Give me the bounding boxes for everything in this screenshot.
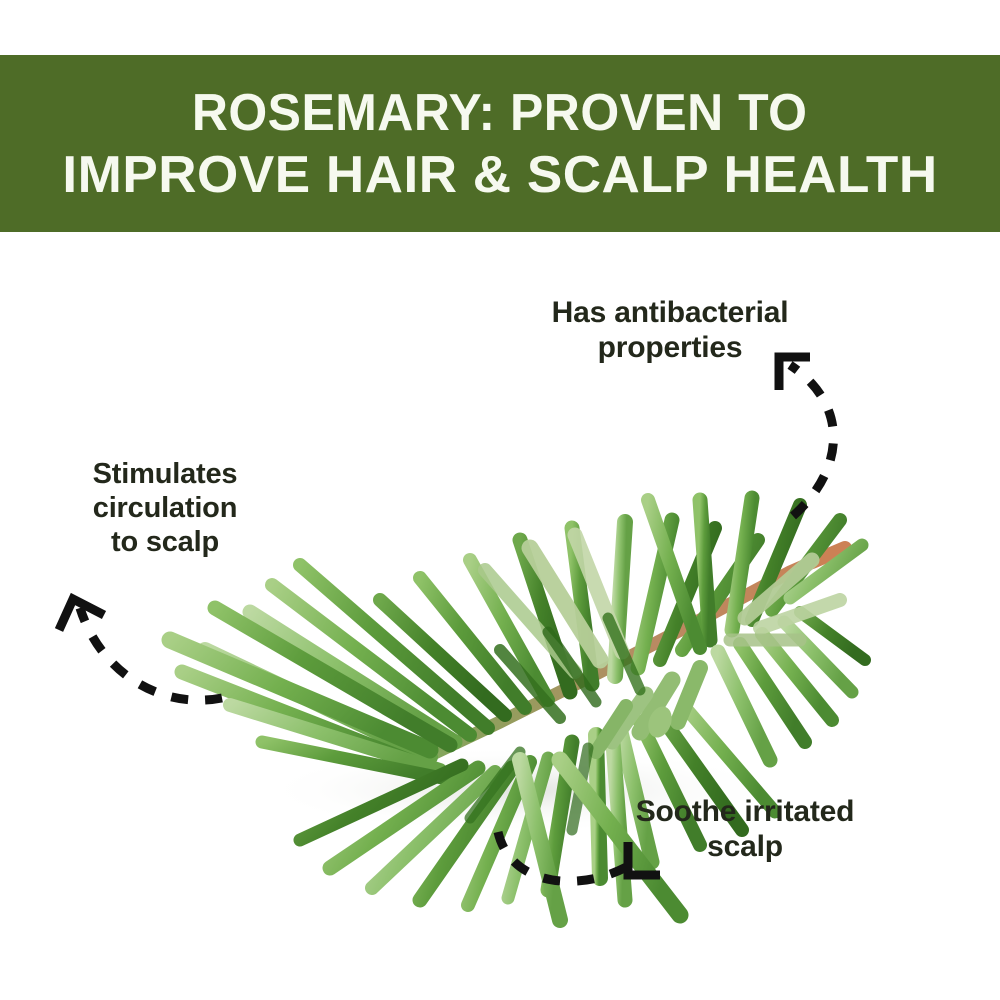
rosemary-infographic: ROSEMARY: PROVEN TO IMPROVE HAIR & SCALP… bbox=[0, 0, 1000, 1000]
callout-antibacterial-line-2: properties bbox=[500, 330, 840, 365]
callout-soothe: Soothe irritated scalp bbox=[580, 794, 910, 864]
callout-circulation-line-3: to scalp bbox=[45, 526, 285, 560]
callout-soothe-line-1: Soothe irritated bbox=[580, 794, 910, 829]
callout-circulation: Stimulates circulation to scalp bbox=[45, 458, 285, 560]
callout-antibacterial-line-1: Has antibacterial bbox=[500, 295, 840, 330]
callout-circulation-line-2: circulation bbox=[45, 492, 285, 526]
callout-antibacterial: Has antibacterial properties bbox=[500, 295, 840, 365]
callout-circulation-line-1: Stimulates bbox=[45, 458, 285, 492]
callout-soothe-line-2: scalp bbox=[580, 829, 910, 864]
